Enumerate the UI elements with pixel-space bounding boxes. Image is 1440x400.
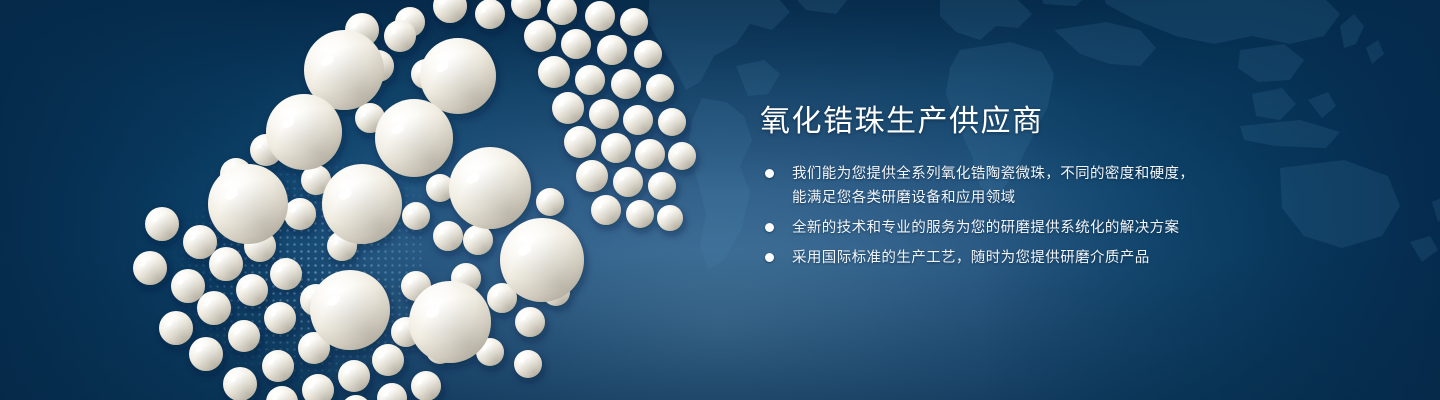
banner-text-block: 氧化锆珠生产供应商 我们能为您提供全系列氧化锆陶瓷微珠，不同的密度和硬度， 能满… [760, 104, 1320, 276]
hero-banner: 氧化锆珠生产供应商 我们能为您提供全系列氧化锆陶瓷微珠，不同的密度和硬度， 能满… [0, 0, 1440, 400]
bullet-dot-icon [765, 223, 774, 232]
list-item: 采用国际标准的生产工艺，随时为您提供研磨介质产品 [760, 246, 1320, 270]
bullet-text: 采用国际标准的生产工艺，随时为您提供研磨介质产品 [792, 246, 1320, 270]
bullet-text: 全新的技术和专业的服务为您的研磨提供系统化的解决方案 [792, 216, 1320, 240]
banner-title: 氧化锆珠生产供应商 [760, 104, 1320, 140]
bullet-text: 我们能为您提供全系列氧化锆陶瓷微珠，不同的密度和硬度， 能满足您各类研磨设备和应… [792, 162, 1320, 210]
list-item: 我们能为您提供全系列氧化锆陶瓷微珠，不同的密度和硬度， 能满足您各类研磨设备和应… [760, 162, 1320, 210]
bullet-line-2: 能满足您各类研磨设备和应用领域 [792, 186, 1320, 210]
bullet-line-1: 全新的技术和专业的服务为您的研磨提供系统化的解决方案 [792, 216, 1320, 240]
bullet-line-1: 我们能为您提供全系列氧化锆陶瓷微珠，不同的密度和硬度， [792, 162, 1320, 186]
list-item: 全新的技术和专业的服务为您的研磨提供系统化的解决方案 [760, 216, 1320, 240]
bullet-dot-icon [765, 253, 774, 262]
banner-feature-list: 我们能为您提供全系列氧化锆陶瓷微珠，不同的密度和硬度， 能满足您各类研磨设备和应… [760, 162, 1320, 270]
bullet-line-1: 采用国际标准的生产工艺，随时为您提供研磨介质产品 [792, 246, 1320, 270]
bullet-dot-icon [765, 169, 774, 178]
zirconia-beads-image [110, 0, 730, 400]
